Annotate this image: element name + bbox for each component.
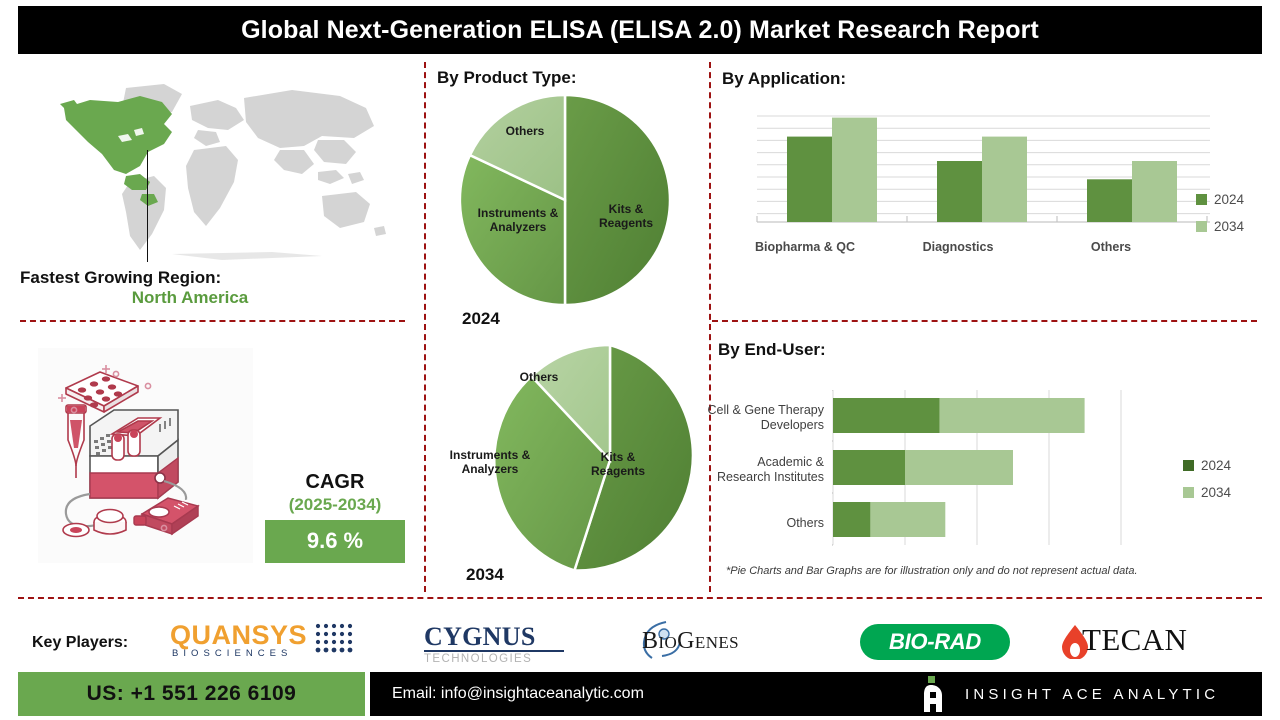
- logo-biorad-name: BIO-RAD: [860, 624, 1010, 660]
- logo-quansys-dots: [314, 622, 354, 658]
- divider-horizontal-right: [712, 320, 1257, 322]
- end-user-bar-chart: [832, 390, 1152, 555]
- product-type-title: By Product Type:: [437, 68, 576, 88]
- application-category-others: Others: [1056, 240, 1166, 254]
- logo-tecan: TECAN: [1058, 620, 1238, 662]
- logo-quansys-sub: B I O S C I E N C E S: [172, 648, 289, 659]
- logo-tecan-name: TECAN: [1082, 622, 1187, 658]
- chart-disclaimer-note: *Pie Charts and Bar Graphs are for illus…: [726, 565, 1246, 577]
- legend-item-2034: 2034: [1196, 219, 1244, 234]
- end-user-legend: 2024 2034: [1183, 458, 1231, 512]
- application-bar-chart: [752, 112, 1212, 232]
- pie-2024-label-others: Others: [484, 124, 566, 138]
- end-user-category-others: Others: [692, 516, 824, 531]
- legend-item-2024-enduser: 2024: [1183, 458, 1231, 473]
- application-title: By Application:: [722, 69, 846, 89]
- legend-label-2034-enduser: 2034: [1201, 485, 1231, 500]
- end-user-category-academic: Academic &Research Institutes: [692, 455, 824, 485]
- cagr-years: (2025-2034): [265, 494, 405, 516]
- pie-2024-label-kits: Kits &Reagents: [586, 202, 666, 230]
- logo-cygnus: CYGNUS TECHNOLOGIES: [424, 622, 574, 662]
- fastest-growing-region: Fastest Growing Region: North America: [20, 268, 410, 309]
- legend-swatch-2034-enduser: [1183, 487, 1194, 498]
- elisa-instrument-illustration: [38, 348, 253, 563]
- pie-2034-label-others: Others: [504, 370, 574, 384]
- divider-horizontal-footer: [18, 597, 1262, 599]
- map-pointer-line: [147, 150, 148, 262]
- divider-vertical-left: [424, 62, 426, 592]
- fastest-growing-region-label: Fastest Growing Region:: [20, 268, 410, 287]
- application-legend: 2024 2034: [1196, 192, 1244, 246]
- application-category-biopharma: Biopharma & QC: [750, 240, 860, 254]
- phone-text: US: +1 551 226 6109: [87, 682, 297, 706]
- brand-name: INSIGHT ACE ANALYTIC: [965, 686, 1219, 703]
- infographic-page: Global Next-Generation ELISA (ELISA 2.0)…: [0, 0, 1280, 720]
- logo-quansys-name: QUANSYS: [170, 620, 307, 651]
- pie-2024-year: 2024: [462, 309, 500, 329]
- cagr-value-badge: 9.6 %: [265, 520, 405, 563]
- divider-horizontal-left: [20, 320, 405, 322]
- pie-2024-label-instruments: Instruments &Analyzers: [452, 206, 584, 234]
- logo-cygnus-sub: TECHNOLOGIES: [424, 653, 532, 665]
- application-category-diagnostics: Diagnostics: [903, 240, 1013, 254]
- phone-bar: US: +1 551 226 6109: [18, 672, 365, 716]
- logo-biogenes: BIOGENES: [636, 618, 806, 662]
- fastest-growing-region-name: North America: [20, 287, 360, 309]
- logo-cygnus-underline: [424, 650, 564, 652]
- pie-2034-label-instruments: Instruments &Analyzers: [424, 448, 556, 476]
- logo-biorad: BIO-RAD: [860, 624, 1010, 660]
- world-map: [22, 78, 402, 263]
- logo-quansys: QUANSYS B I O S C I E N C E S: [170, 620, 350, 662]
- brand-block: INSIGHT ACE ANALYTIC: [915, 676, 1219, 712]
- legend-label-2024: 2024: [1214, 192, 1244, 207]
- page-title: Global Next-Generation ELISA (ELISA 2.0)…: [241, 16, 1039, 45]
- logo-biogenes-name: BIOGENES: [642, 628, 739, 655]
- cagr-title: CAGR: [265, 470, 405, 494]
- insight-ace-logo-icon: [915, 676, 949, 712]
- legend-item-2034-enduser: 2034: [1183, 485, 1231, 500]
- pie-2034-year: 2034: [466, 565, 504, 585]
- legend-label-2024-enduser: 2024: [1201, 458, 1231, 473]
- logo-cygnus-name: CYGNUS: [424, 622, 536, 652]
- key-players-label: Key Players:: [32, 634, 128, 652]
- end-user-category-cellgene: Cell & Gene TherapyDevelopers: [692, 403, 824, 433]
- end-user-title: By End-User:: [718, 340, 826, 360]
- header-bar: Global Next-Generation ELISA (ELISA 2.0)…: [18, 6, 1262, 54]
- legend-swatch-2024: [1196, 194, 1207, 205]
- cagr-block: CAGR (2025-2034) 9.6 %: [265, 470, 405, 563]
- legend-swatch-2024-enduser: [1183, 460, 1194, 471]
- legend-label-2034: 2034: [1214, 219, 1244, 234]
- legend-item-2024: 2024: [1196, 192, 1244, 207]
- legend-swatch-2034: [1196, 221, 1207, 232]
- pie-2034-label-kits: Kits &Reagents: [578, 450, 658, 478]
- email-text: Email: info@insightaceanalytic.com: [392, 685, 644, 703]
